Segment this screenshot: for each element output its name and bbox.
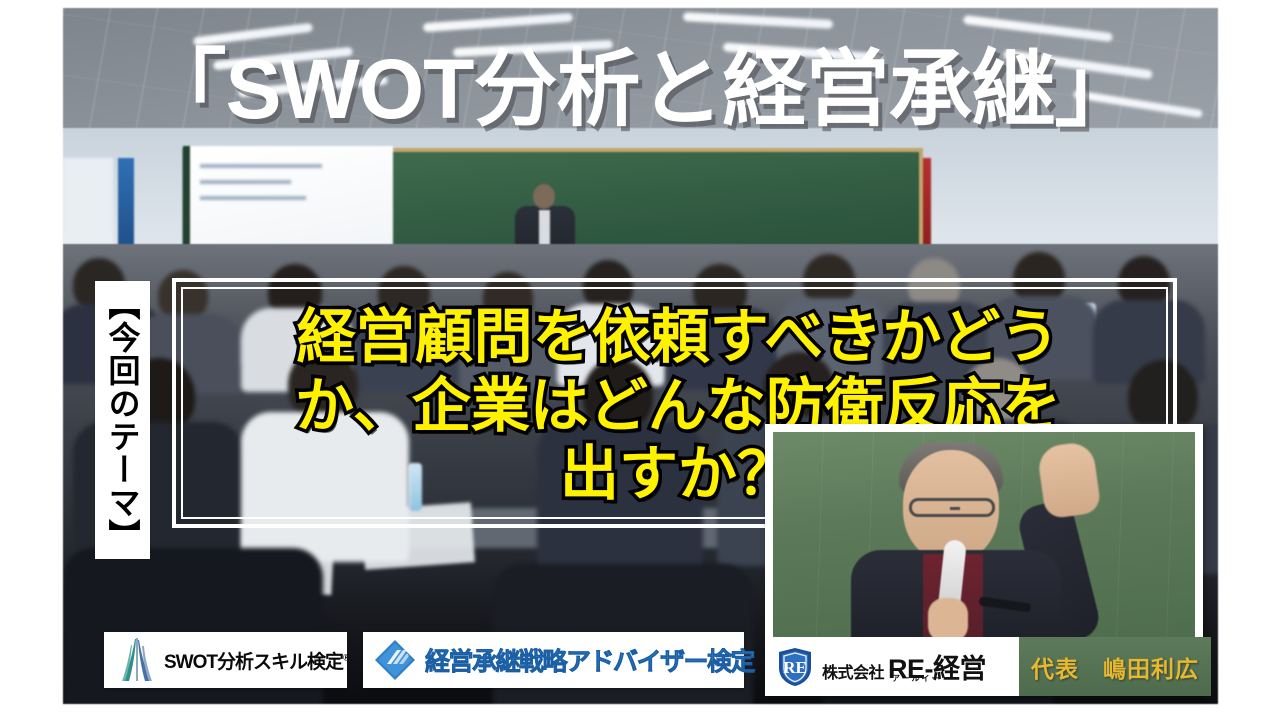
company-name: RE-経営 アールイー xyxy=(888,647,986,686)
company-name-ruby: アールイー xyxy=(892,673,942,684)
re-keiei-logo: RE 株式会社 RE-経営 アールイー xyxy=(773,637,996,696)
logo-swot-skill-certification[interactable]: SWOT分析スキル検定® xyxy=(104,632,347,688)
re-keiei-wordmark: 株式会社 RE-経営 アールイー xyxy=(822,647,986,686)
speaker-head xyxy=(533,184,555,209)
svg-text:RE: RE xyxy=(783,658,807,677)
blue-diamond-icon xyxy=(373,638,417,682)
logo-swot-label: SWOT分析スキル検定® xyxy=(164,647,349,674)
logo-swot-text: SWOT分析スキル検定 xyxy=(164,652,343,673)
presenter-hand xyxy=(928,598,968,637)
presenter-video xyxy=(773,432,1195,637)
wave-fan-icon xyxy=(114,637,158,683)
page-title: 「SWOT分析と経営承継」 xyxy=(0,46,1280,133)
presenter-name: 代表 嶋田利広 xyxy=(1019,637,1211,696)
logo-succession-label: 経営承継戦略アドバイザー検定 xyxy=(425,642,754,678)
headline-line-1: 経営顧問を依頼すべきかどう xyxy=(297,303,1060,371)
headline-line-3: 出すか？ xyxy=(560,440,796,508)
re-shield-icon: RE xyxy=(777,647,813,687)
presenter-glasses xyxy=(909,498,995,517)
registered-mark: ® xyxy=(343,652,349,662)
logo-succession-advisor-certification[interactable]: 経営承継戦略アドバイザー検定 xyxy=(363,632,744,688)
page-title-text: 「SWOT分析と経営承継」 xyxy=(143,42,1138,136)
blue-banner xyxy=(118,158,134,253)
presenter-caption-bar: RE 株式会社 RE-経営 アールイー 代表 嶋田利広 xyxy=(773,637,1195,696)
company-prefix: 株式会社 xyxy=(822,659,884,683)
theme-label: 【今回のテーマ】 xyxy=(95,281,150,559)
slide-canvas: 「SWOT分析と経営承継」 【今回のテーマ】 経営顧問を依頼すべきかどう か、企… xyxy=(0,0,1280,720)
presenter-inset: RE 株式会社 RE-経営 アールイー 代表 嶋田利広 xyxy=(765,424,1203,696)
theme-label-text: 【今回のテーマ】 xyxy=(100,288,146,552)
